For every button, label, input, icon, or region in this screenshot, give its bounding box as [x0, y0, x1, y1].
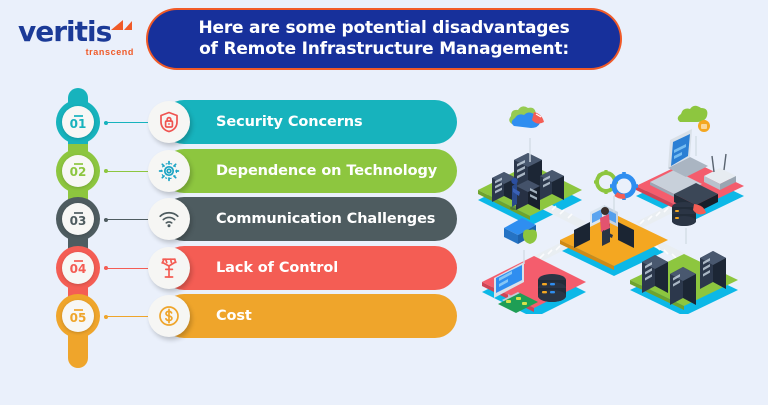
step-number: 04	[70, 263, 87, 275]
connector-line-01	[104, 122, 148, 123]
logo-tagline: transcend	[18, 47, 138, 57]
badge-tick-icon	[74, 309, 83, 311]
page-title: Here are some potential disadvantages of…	[198, 18, 569, 60]
dollar-coin-icon	[148, 295, 190, 337]
shield-lock-icon	[148, 101, 190, 143]
broken-control-icon	[148, 247, 190, 289]
connector-line-02	[104, 171, 148, 172]
gear-icon	[148, 150, 190, 192]
step-badge-01[interactable]: 01	[56, 100, 100, 144]
list-item-bar[interactable]: Security Concerns	[162, 100, 457, 144]
step-number: 05	[70, 312, 87, 324]
list-item-bar[interactable]: Communication Challenges	[162, 197, 457, 241]
list-item[interactable]: Security Concerns	[148, 100, 457, 144]
list-item[interactable]: Lack of Control	[148, 246, 457, 290]
database-cylinder	[538, 274, 566, 302]
list-item-bar[interactable]: Cost	[162, 294, 457, 338]
connector-line-03	[104, 219, 148, 220]
list-item-label: Lack of Control	[216, 260, 338, 276]
list-item[interactable]: Cost	[148, 294, 457, 338]
step-badge-05[interactable]: 05	[56, 294, 100, 338]
connector-line-05	[104, 316, 148, 317]
step-number: 01	[70, 118, 87, 130]
step-badge-04[interactable]: 04	[56, 246, 100, 290]
list-item-bar[interactable]: Lack of Control	[162, 246, 457, 290]
isometric-infrastructure-illustration	[468, 78, 764, 314]
list-item-label: Dependence on Technology	[216, 163, 437, 179]
step-badge-02[interactable]: 02	[56, 149, 100, 193]
workstation-desk	[574, 205, 634, 248]
badge-tick-icon	[74, 163, 83, 165]
veritis-logo[interactable]: veritis transcend	[18, 18, 138, 62]
step-number: 02	[70, 166, 87, 178]
list-item-label: Communication Challenges	[216, 211, 435, 227]
list-item[interactable]: Dependence on Technology	[148, 149, 457, 193]
badge-tick-icon	[74, 260, 83, 262]
title-banner: Here are some potential disadvantages of…	[148, 10, 620, 68]
list-item[interactable]: Communication Challenges	[148, 197, 457, 241]
step-number: 03	[70, 215, 87, 227]
list-item-bar[interactable]: Dependence on Technology	[162, 149, 457, 193]
cloud-rocket-icon	[509, 106, 544, 162]
wifi-icon	[148, 198, 190, 240]
gears-icon	[594, 170, 638, 212]
badge-tick-icon	[74, 115, 83, 117]
list-item-label: Security Concerns	[216, 114, 363, 130]
database-rocket-icon	[672, 202, 706, 244]
step-badge-03[interactable]: 03	[56, 197, 100, 241]
badge-tick-icon	[74, 212, 83, 214]
connector-line-04	[104, 268, 148, 269]
veritis-swoosh-icon	[110, 20, 132, 32]
list-item-label: Cost	[216, 308, 252, 324]
